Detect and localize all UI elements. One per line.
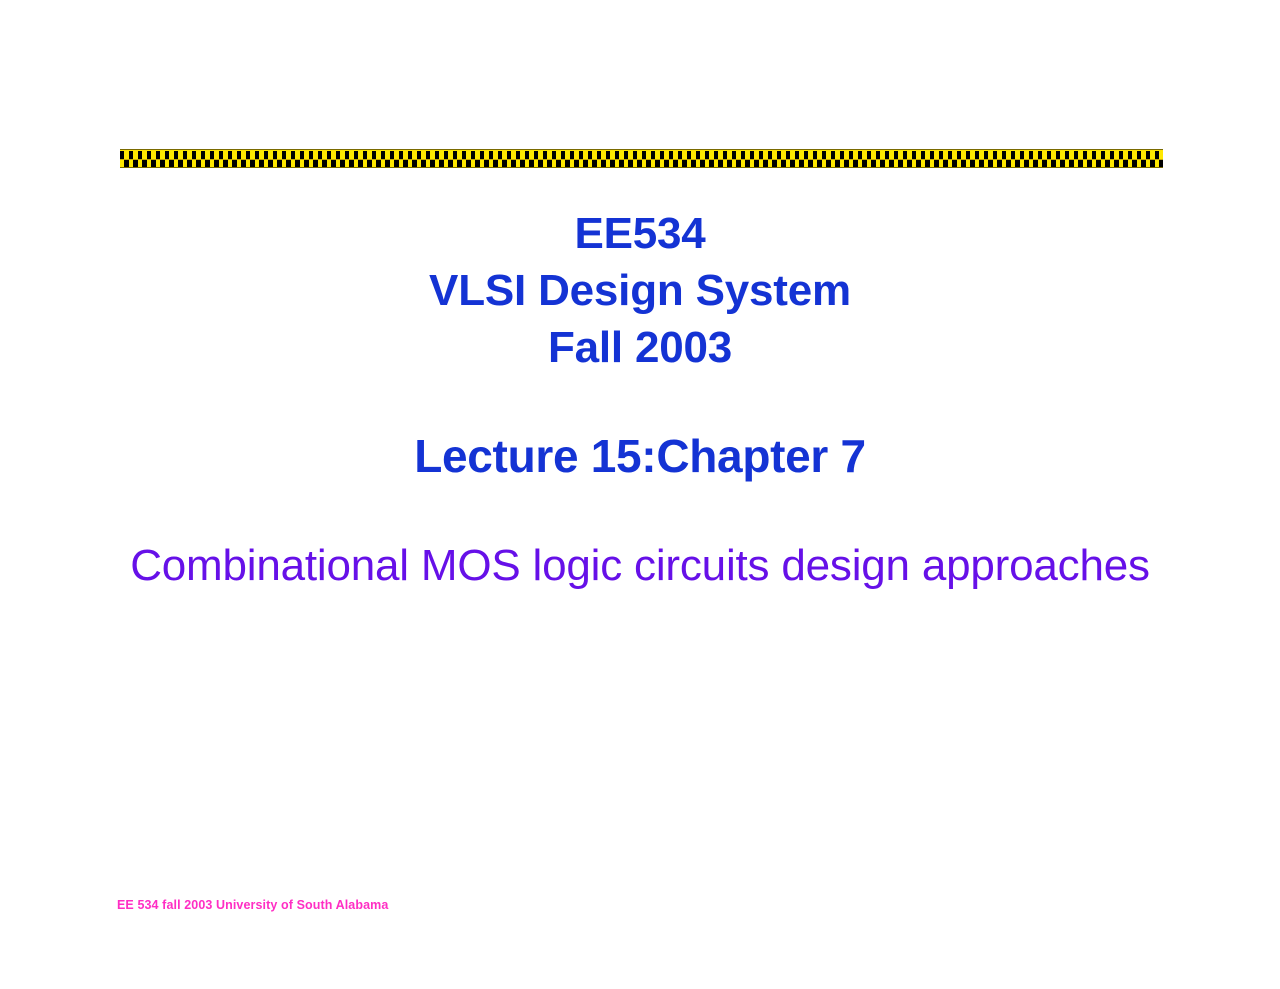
lecture-subtitle: Combinational MOS logic circuits design … — [0, 538, 1280, 594]
slide-footer: EE 534 fall 2003 University of South Ala… — [117, 897, 388, 913]
lecture-chapter-heading: Lecture 15:Chapter 7 — [0, 428, 1280, 484]
title-line-course-code: EE534 — [0, 205, 1280, 262]
checkered-divider-row-bottom — [120, 160, 1163, 168]
slide-canvas: EE534 VLSI Design System Fall 2003 Lectu… — [0, 0, 1280, 989]
slide-title: EE534 VLSI Design System Fall 2003 — [0, 205, 1280, 376]
title-line-term: Fall 2003 — [0, 319, 1280, 376]
checkered-divider-row-top — [120, 151, 1163, 159]
title-line-course-name: VLSI Design System — [0, 262, 1280, 319]
checkered-divider-bar — [120, 149, 1163, 168]
